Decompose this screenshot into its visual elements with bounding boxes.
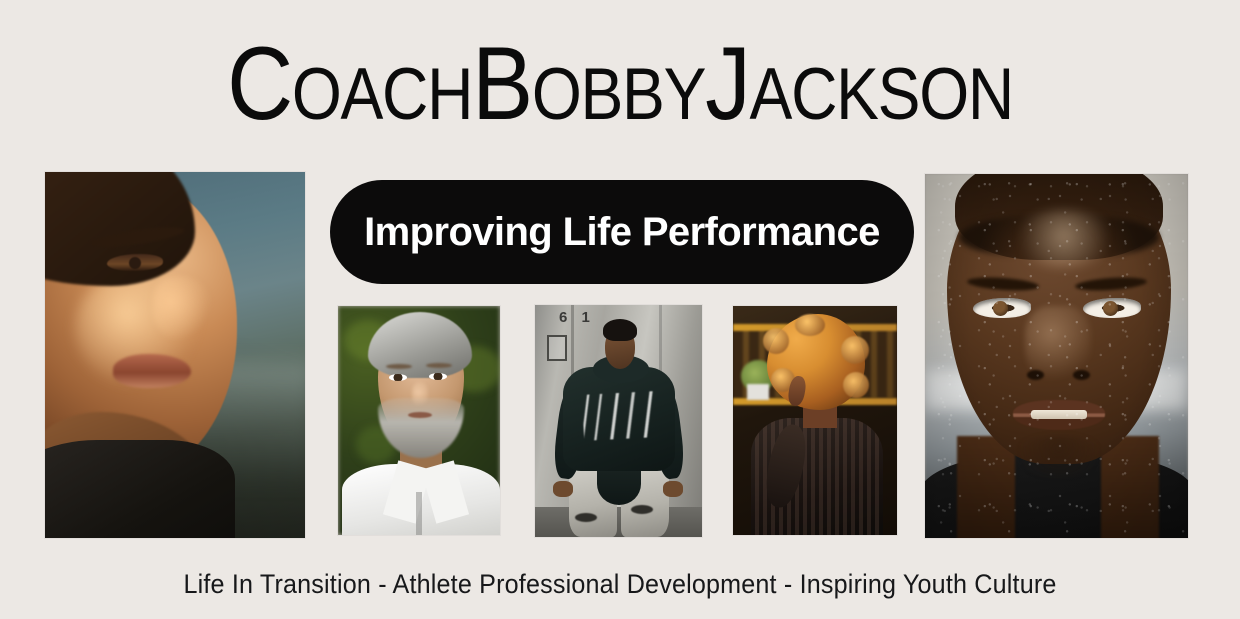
photo-man-grey-hair-white-shirt [338, 306, 500, 535]
slogan-text: Improving Life Performance [364, 210, 880, 254]
plant-pot [747, 384, 769, 400]
hoodie-graphic-print [582, 391, 656, 441]
lips-shape [113, 354, 191, 388]
hair-curl [841, 336, 869, 364]
jeans-rip [575, 513, 597, 522]
eyebrow-left [386, 364, 412, 369]
hair-shape [603, 319, 637, 341]
mouth-shape [408, 412, 432, 418]
jacket-shape [45, 440, 235, 538]
hair-curl [795, 314, 825, 336]
jeans-rip [631, 505, 653, 514]
slogan-badge: Improving Life Performance [330, 180, 914, 284]
eye-left [389, 374, 407, 381]
hand-right [663, 481, 683, 497]
tagline: Life In Transition - Athlete Professiona… [43, 567, 1196, 601]
wall-plate [547, 335, 567, 361]
nose-highlight [412, 382, 428, 408]
hair-curl [843, 372, 869, 398]
hand-left [553, 481, 573, 497]
promo-banner: CoachBobbyJackson Improving Life Perform… [0, 0, 1240, 619]
photo-woman-curly-hair-smiling [733, 306, 897, 535]
photo-1-scene [45, 172, 305, 538]
photo-4-scene [733, 306, 897, 535]
shirt-placket [416, 492, 422, 535]
photo-young-man-hoodie-wall: 6 1 [535, 305, 702, 537]
photo-5-scene [925, 174, 1188, 538]
photo-young-man-closeup-portrait [925, 174, 1188, 538]
vignette-overlay [925, 174, 1188, 538]
eyebrow-right [426, 363, 452, 368]
photo-2-scene [338, 306, 500, 535]
photo-3-scene: 6 1 [535, 305, 702, 537]
page-title: CoachBobbyJackson [74, 28, 1165, 140]
wall-marking-text: 6 1 [559, 309, 595, 326]
eye-right [429, 373, 447, 380]
hair-curl [763, 328, 789, 354]
ground-shape [535, 507, 702, 537]
photo-woman-profile-sunlight [45, 172, 305, 538]
